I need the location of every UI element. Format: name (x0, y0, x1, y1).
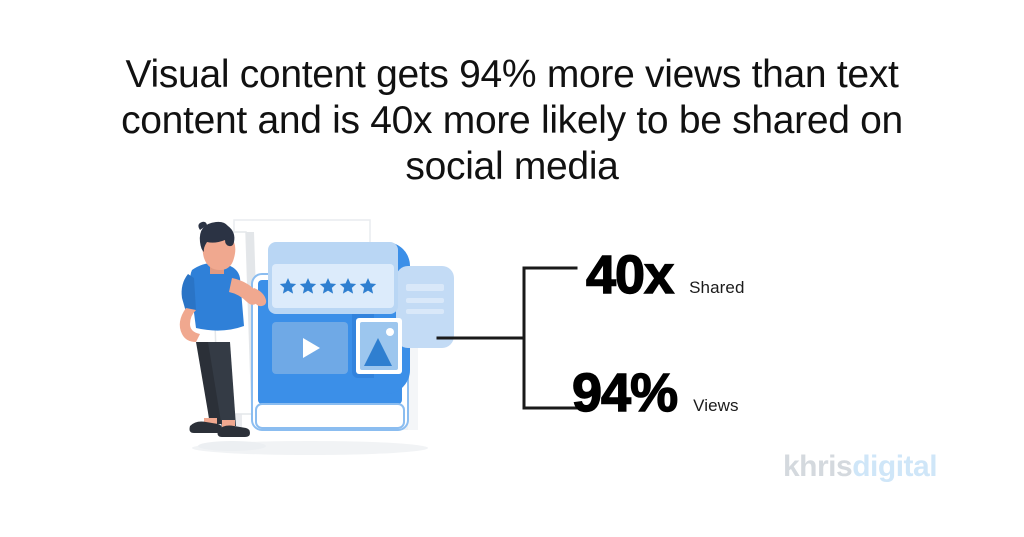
stat-views-value: 94% (572, 366, 677, 420)
infographic-canvas: Visual content gets 94% more views than … (0, 0, 1024, 537)
page-title: Visual content gets 94% more views than … (70, 52, 954, 190)
sleeve-left (182, 274, 196, 313)
brand-logo: khris digital (783, 452, 937, 482)
figure-shadow (198, 441, 266, 451)
stat-views: 94% Views (572, 366, 739, 420)
brand-logo-digital: digital (852, 452, 937, 482)
shoe-front (218, 426, 251, 438)
stat-shared-label: Shared (689, 278, 744, 298)
stat-views-label: Views (693, 396, 739, 416)
stat-shared-value: 40x (586, 248, 673, 302)
image-sun-icon (386, 328, 394, 336)
hero-illustration (160, 218, 460, 458)
monitor-bezel (256, 404, 404, 428)
brand-logo-khris: khris (783, 452, 852, 482)
stat-shared: 40x Shared (586, 248, 745, 302)
